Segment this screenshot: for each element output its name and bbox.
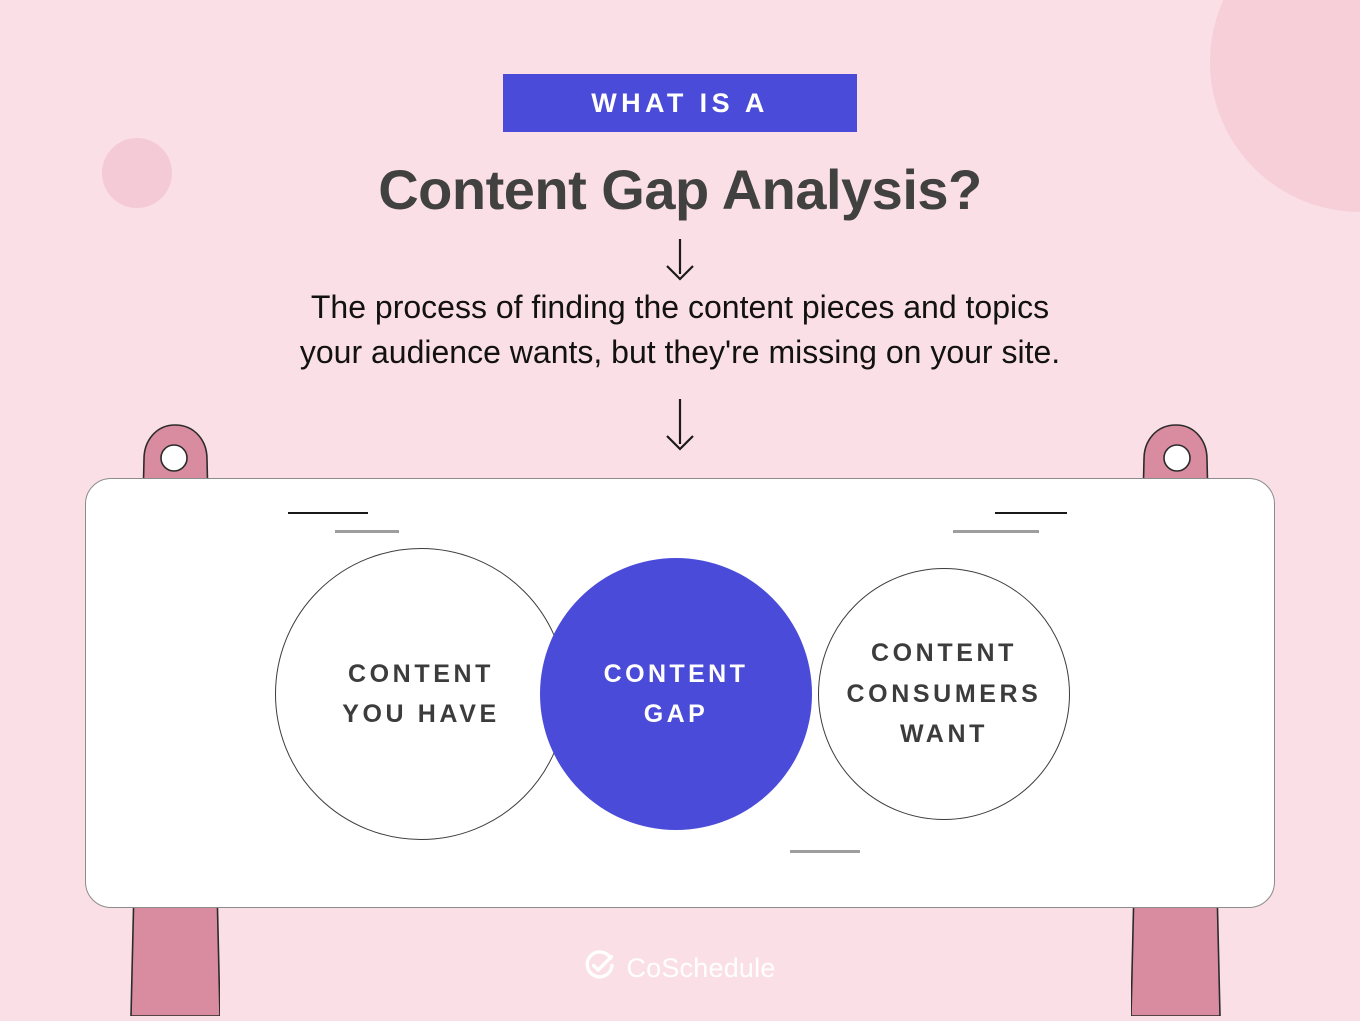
decorative-rule-top-left-light: [335, 530, 399, 533]
decorative-rule-top-right-dark: [995, 512, 1067, 514]
badge-label: WHAT IS A: [591, 90, 769, 117]
circle-label-content-you-have: CONTENT YOU HAVE: [342, 654, 500, 735]
down-arrow-icon-1: [0, 238, 1360, 289]
circle-label-line-1: CONTENT: [348, 660, 494, 688]
coschedule-check-icon: [584, 950, 615, 986]
infographic-canvas: WHAT IS A Content Gap Analysis? The proc…: [0, 0, 1360, 1016]
venn-diagram: CONTENT YOU HAVE CONTENT CONSUMERS WANT …: [85, 478, 1275, 908]
circle-label-content-consumers-want: CONTENT CONSUMERS WANT: [847, 633, 1042, 755]
coschedule-wordmark: CoSchedule: [626, 953, 775, 984]
circle-label-content-gap: CONTENT GAP: [604, 654, 749, 735]
coschedule-logo: CoSchedule: [0, 950, 1360, 986]
description-text: The process of finding the content piece…: [0, 285, 1360, 376]
what-is-a-badge: WHAT IS A: [503, 74, 857, 132]
decorative-rule-top-right-light: [953, 530, 1039, 533]
decorative-rule-bottom: [790, 850, 860, 853]
circle-content-consumers-want: CONTENT CONSUMERS WANT: [818, 568, 1070, 820]
circle-content-gap: CONTENT GAP: [540, 558, 812, 830]
circle-label-line-1: CONTENT: [604, 660, 749, 688]
circle-label-line-3: WANT: [900, 720, 988, 748]
circle-label-line-1: CONTENT: [871, 639, 1017, 667]
circle-label-line-2: YOU HAVE: [342, 700, 500, 728]
description-line-1: The process of finding the content piece…: [0, 285, 1360, 330]
page-title: Content Gap Analysis?: [0, 157, 1360, 223]
description-line-2: your audience wants, but they're missing…: [0, 330, 1360, 375]
decorative-rule-top-left-dark: [288, 512, 368, 514]
circle-content-you-have: CONTENT YOU HAVE: [275, 548, 567, 840]
circle-label-line-2: CONSUMERS: [847, 680, 1042, 708]
circle-label-line-2: GAP: [644, 700, 708, 728]
